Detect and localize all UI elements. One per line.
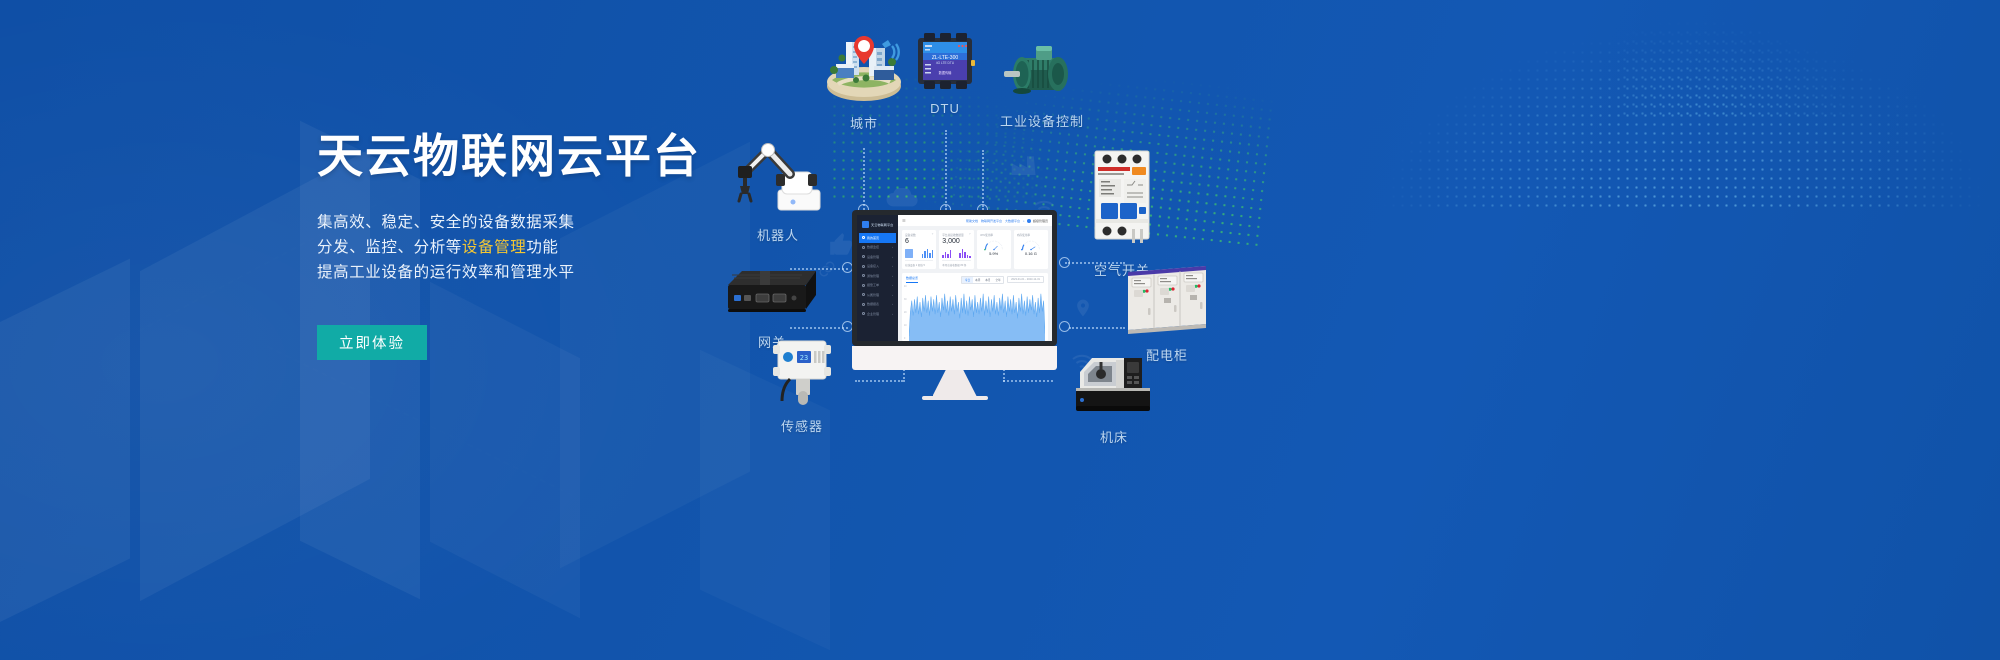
sidebar-item-label: 我的首页: [867, 236, 893, 240]
range-week[interactable]: 本周: [973, 277, 983, 283]
panel-tab-overview[interactable]: 数据总览: [906, 276, 918, 283]
card-viz-bars: [922, 248, 934, 258]
topbar-link-help[interactable]: 帮助文档: [966, 219, 978, 223]
area-chart: 40 30 20 10 0: [902, 284, 1048, 342]
stat-card-memory: 内存使用率 0.16 G: [1014, 230, 1048, 269]
sensor-probe-icon: 23: [762, 335, 842, 407]
memory-gauge-value: 0.16 G: [1017, 251, 1045, 256]
cpu-gauge-value: 5.9%: [980, 251, 1008, 256]
chevron-right-icon: ›: [892, 264, 893, 268]
sidebar-item-label: 报警工单: [867, 283, 890, 287]
dashboard-main: ☰ 帮助文档 物联网开发平台 大数据平台 ♪ 超级管理员 设备总数? 6: [898, 215, 1052, 341]
node-industrial-control[interactable]: 工业设备控制: [1000, 42, 1082, 130]
card-title: 平台总接收数据量: [942, 233, 964, 237]
menu-bullet-icon: [862, 255, 865, 258]
power-cabinet-icon: [1120, 260, 1214, 336]
date-range-picker[interactable]: 2023-01-01 - 2023-12-31: [1007, 276, 1044, 283]
chevron-right-icon: ›: [892, 255, 893, 259]
y-tick: 40: [904, 286, 907, 289]
node-label-cnc: 机床: [1070, 427, 1158, 446]
chart-plot-area: [909, 287, 1045, 342]
node-label-robot: 机器人: [728, 225, 828, 244]
range-year[interactable]: 全年: [993, 277, 1003, 283]
stat-card-data-volume: 平台总接收数据量? 3,000 本月总接收数据 80 条: [939, 230, 973, 269]
card-title: 设备总数: [905, 233, 916, 237]
sidebar-item-monitor[interactable]: 数据监控›: [859, 243, 896, 253]
try-now-button[interactable]: 立即体验: [317, 325, 427, 360]
node-label-industrial-control: 工业设备控制: [1000, 111, 1082, 130]
overview-chart-panel: 数据总览 今日 本周 本月 全年 2023-01-01 - 2023-12-31: [902, 273, 1048, 341]
sidebar-item-label: 设备管理: [867, 255, 890, 259]
industrial-motor-icon: [1000, 42, 1082, 102]
factory-ghost-icon: [1010, 150, 1044, 178]
connector-motor: [982, 150, 984, 210]
sidebar-item-label: 数据监控: [867, 245, 890, 249]
dtu-module-icon: ZL-LTE-300 4G LTE DTU 数据传输: [913, 30, 977, 92]
node-label-sensor: 传感器: [762, 416, 842, 435]
subtitle-post: 功能: [526, 239, 558, 256]
sidebar-item-access[interactable]: 设备接入›: [859, 262, 896, 272]
sidebar-item-devices[interactable]: 设备管理›: [859, 252, 896, 262]
cloud-ghost-icon: [883, 188, 923, 208]
y-tick: 20: [904, 312, 907, 315]
menu-bullet-icon: [862, 274, 865, 277]
range-selector[interactable]: 今日 本周 本月 全年: [961, 276, 1004, 284]
svg-text:4G LTE DTU: 4G LTE DTU: [936, 61, 955, 65]
node-label-dtu: DTU: [913, 101, 977, 116]
card-value: 6: [905, 237, 933, 246]
monitor-foot: [922, 396, 988, 400]
chevron-right-icon: ›: [892, 283, 893, 287]
sidebar-item-label: 通信管理: [867, 274, 890, 278]
card-footer: 在线设备 1 离线 5: [905, 260, 933, 267]
card-value: 3,000: [942, 237, 970, 246]
subtitle-pre: 分发、监控、分析等: [317, 239, 462, 256]
topbar-link-bigdata[interactable]: 大数据平台: [1005, 219, 1020, 223]
monitor-screen: 天云物联网平台 我的首页 数据监控› 设备管理› 设备接入› 通信管理› 报警工…: [857, 215, 1052, 341]
device-ecosystem-diagram: 城市 ZL-LTE-300 4G LTE DTU 数据传输 DTU: [700, 0, 2000, 660]
collapse-menu-icon[interactable]: ☰: [902, 218, 906, 223]
card-footer: 本月总接收数据 80 条: [942, 260, 970, 267]
node-cnc[interactable]: 机床: [1070, 348, 1158, 446]
user-name: 超级管理员: [1033, 219, 1048, 223]
sidebar-item-enterprise[interactable]: 企业管理›: [859, 309, 896, 319]
dashboard-topbar: ☰ 帮助文档 物联网开发平台 大数据平台 ♪ 超级管理员: [898, 215, 1052, 226]
connector-city: [863, 148, 865, 210]
y-tick: 30: [904, 299, 907, 302]
chevron-right-icon: ›: [892, 312, 893, 316]
menu-bullet-icon: [862, 246, 865, 249]
sidebar-item-alarm[interactable]: 报警工单›: [859, 281, 896, 291]
chart-series-path: [909, 287, 1045, 342]
connector-endpoint: [1059, 321, 1070, 332]
card-viz-block: [905, 249, 913, 258]
dashboard-sidebar: 天云物联网平台 我的首页 数据监控› 设备管理› 设备接入› 通信管理› 报警工…: [857, 215, 898, 341]
y-tick: 0: [904, 338, 907, 341]
panel-header: 数据总览 今日 本周 本月 全年 2023-01-01 - 2023-12-31: [902, 273, 1048, 284]
sidebar-item-label: 从属管理: [867, 293, 890, 297]
desktop-monitor: 天云物联网平台 我的首页 数据监控› 设备管理› 设备接入› 通信管理› 报警工…: [852, 210, 1057, 400]
thumbs-up-ghost-icon: [828, 232, 854, 258]
bell-icon[interactable]: ♪: [1023, 219, 1025, 223]
chevron-right-icon: ›: [892, 274, 893, 278]
menu-bullet-icon: [862, 312, 865, 315]
info-icon[interactable]: ?: [932, 233, 934, 236]
monitor-frame: 天云物联网平台 我的首页 数据监控› 设备管理› 设备接入› 通信管理› 报警工…: [852, 210, 1057, 346]
cnc-machine-icon: [1070, 348, 1158, 418]
menu-bullet-icon: [862, 284, 865, 287]
stat-card-row: 设备总数? 6 在线设备 1 离线 5 平台总接收数据量? 3,000: [898, 226, 1052, 269]
node-dtu[interactable]: ZL-LTE-300 4G LTE DTU 数据传输 DTU: [913, 30, 977, 116]
card-viz-bars: [942, 248, 951, 258]
menu-bullet-icon: [862, 303, 865, 306]
menu-bullet-icon: [862, 293, 865, 296]
topbar-link-iot-dev[interactable]: 物联网开发平台: [981, 219, 1002, 223]
menu-bullet-icon: [862, 236, 865, 239]
node-city[interactable]: 城市: [822, 28, 906, 132]
chart-y-axis: 40 30 20 10 0: [904, 286, 907, 342]
gateway-box-icon: [720, 265, 824, 323]
node-robot[interactable]: 机器人: [728, 132, 828, 244]
chevron-right-icon: ›: [892, 245, 893, 249]
robot-arm-icon: [728, 132, 828, 216]
monitor-chin: [852, 346, 1057, 370]
sidebar-item-label: 企业管理: [867, 312, 890, 316]
memory-gauge: [1020, 238, 1042, 250]
menu-bullet-icon: [862, 265, 865, 268]
sidebar-item-label: 数据报表: [867, 302, 890, 306]
card-viz-bars: [959, 248, 971, 258]
dashboard-brand: 天云物联网平台: [859, 219, 896, 233]
sidebar-item-label: 设备接入: [867, 264, 890, 268]
smart-city-icon: [822, 28, 906, 104]
range-today[interactable]: 今日: [962, 277, 972, 283]
subtitle-highlight: 设备管理: [462, 239, 526, 256]
range-month[interactable]: 本月: [983, 277, 993, 283]
chevron-right-icon: ›: [892, 293, 893, 297]
connector-cabinet: [1069, 327, 1125, 329]
sidebar-item-sub[interactable]: 从属管理›: [859, 290, 896, 300]
circuit-breaker-icon: [1086, 145, 1158, 251]
stat-card-cpu: CPU使用率 5.9%: [977, 230, 1011, 269]
node-sensor[interactable]: 23 传感器: [762, 335, 842, 435]
stat-card-device-total: 设备总数? 6 在线设备 1 离线 5: [902, 230, 936, 269]
card-title: 内存使用率: [1017, 233, 1030, 237]
user-menu[interactable]: 超级管理员: [1027, 219, 1048, 223]
sidebar-item-comm[interactable]: 通信管理›: [859, 271, 896, 281]
sidebar-item-home[interactable]: 我的首页: [859, 233, 896, 243]
svg-text:数据传输: 数据传输: [939, 70, 953, 75]
y-tick: 10: [904, 325, 907, 328]
iso-building-shape: [0, 259, 130, 642]
connector-dtu: [945, 130, 947, 210]
avatar: [1027, 219, 1031, 223]
cpu-gauge: [983, 238, 1005, 250]
svg-text:23: 23: [800, 354, 808, 362]
monitor-stand: [933, 370, 977, 396]
connector-endpoint: [1059, 257, 1070, 268]
node-label-city: 城市: [822, 113, 906, 132]
info-icon[interactable]: ?: [969, 233, 971, 236]
sidebar-item-reports[interactable]: 数据报表›: [859, 300, 896, 310]
node-air-switch[interactable]: 空气开关: [1086, 145, 1158, 279]
card-title: CPU使用率: [980, 233, 994, 237]
brand-logo-icon: [862, 221, 869, 228]
brand-name: 天云物联网平台: [871, 222, 893, 227]
chevron-right-icon: ›: [892, 302, 893, 306]
map-pin-ghost-icon: [1073, 298, 1093, 318]
